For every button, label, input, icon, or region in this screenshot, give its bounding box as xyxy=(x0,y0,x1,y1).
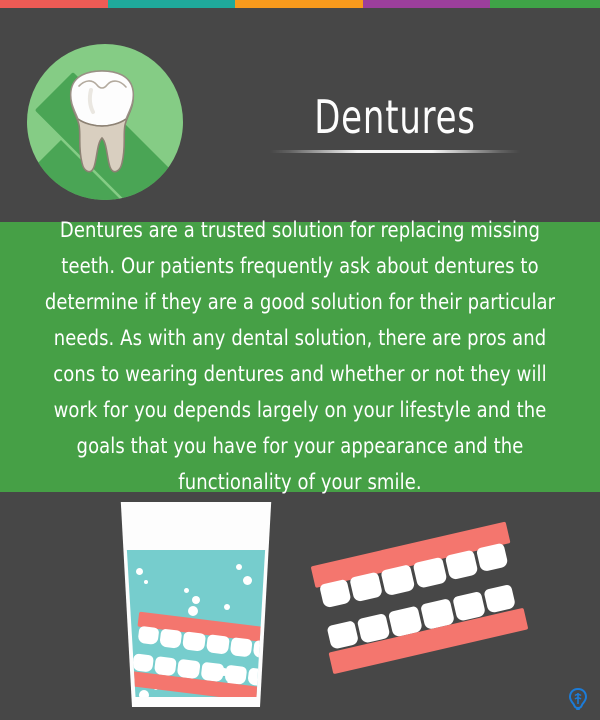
stripe-segment-purple xyxy=(363,0,490,8)
bubble xyxy=(188,606,198,616)
page-title: Dentures xyxy=(293,94,498,140)
illustration-area xyxy=(0,492,600,720)
header: Dentures xyxy=(0,8,600,222)
water-fill xyxy=(124,550,268,697)
stripe-segment-orange xyxy=(235,0,363,8)
bubble xyxy=(144,580,148,584)
stripe-segment-red xyxy=(0,0,108,8)
bubble xyxy=(192,596,200,604)
tooth-logo-badge xyxy=(27,44,183,200)
bubble xyxy=(236,564,242,570)
dental-logo-watermark xyxy=(565,686,591,712)
bubble xyxy=(136,568,143,575)
stripe-segment-green xyxy=(490,0,600,8)
stripe-segment-teal xyxy=(108,0,235,8)
bubble xyxy=(243,576,252,585)
tilted-denture-set xyxy=(307,520,541,689)
glass-of-water-with-dentures xyxy=(116,502,276,707)
page-title-block: Dentures xyxy=(270,94,520,153)
title-underline xyxy=(270,150,520,153)
intro-paragraph: Dentures are a trusted solution for repl… xyxy=(34,213,566,501)
tooth-icon xyxy=(65,68,139,180)
color-stripe xyxy=(0,0,600,8)
infographic-page: Dentures Dentures are a trusted solution… xyxy=(0,0,600,720)
intro-paragraph-band: Dentures are a trusted solution for repl… xyxy=(0,222,600,492)
bubble xyxy=(224,604,230,610)
bubble xyxy=(184,588,189,593)
